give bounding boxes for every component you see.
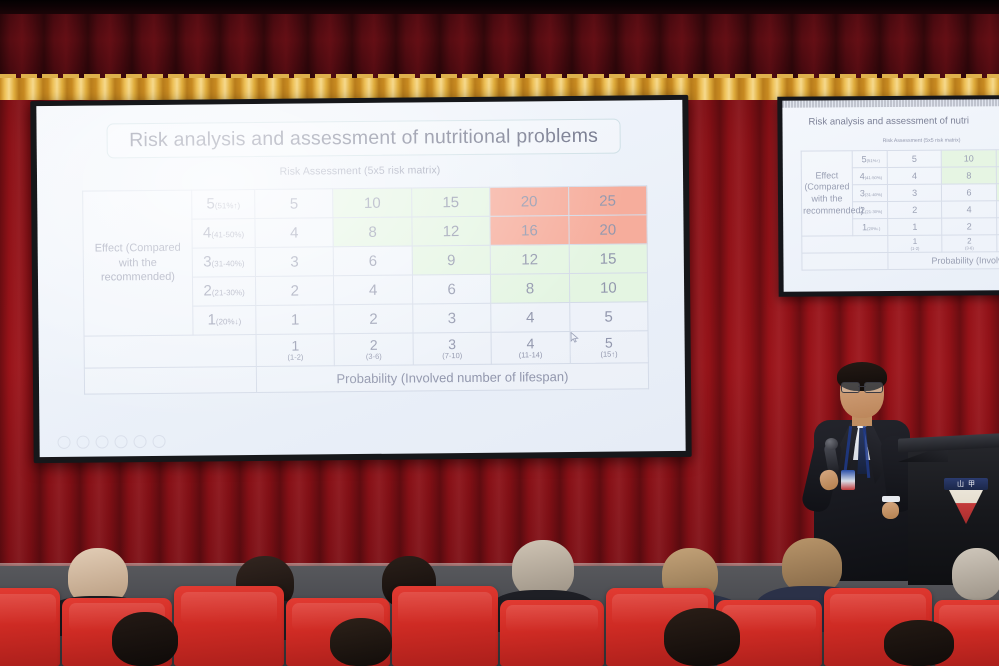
seat bbox=[500, 600, 604, 666]
seat bbox=[174, 586, 284, 666]
seat bbox=[0, 588, 60, 666]
audience-head-front bbox=[884, 620, 954, 666]
seat bbox=[392, 586, 498, 666]
audience-area bbox=[0, 0, 999, 666]
presentation-scene: Risk analysis and assessment of nutritio… bbox=[0, 0, 999, 666]
audience-head-front bbox=[330, 618, 392, 666]
audience-head-front bbox=[112, 612, 178, 666]
audience-head bbox=[952, 548, 999, 600]
audience-head-front bbox=[664, 608, 740, 666]
